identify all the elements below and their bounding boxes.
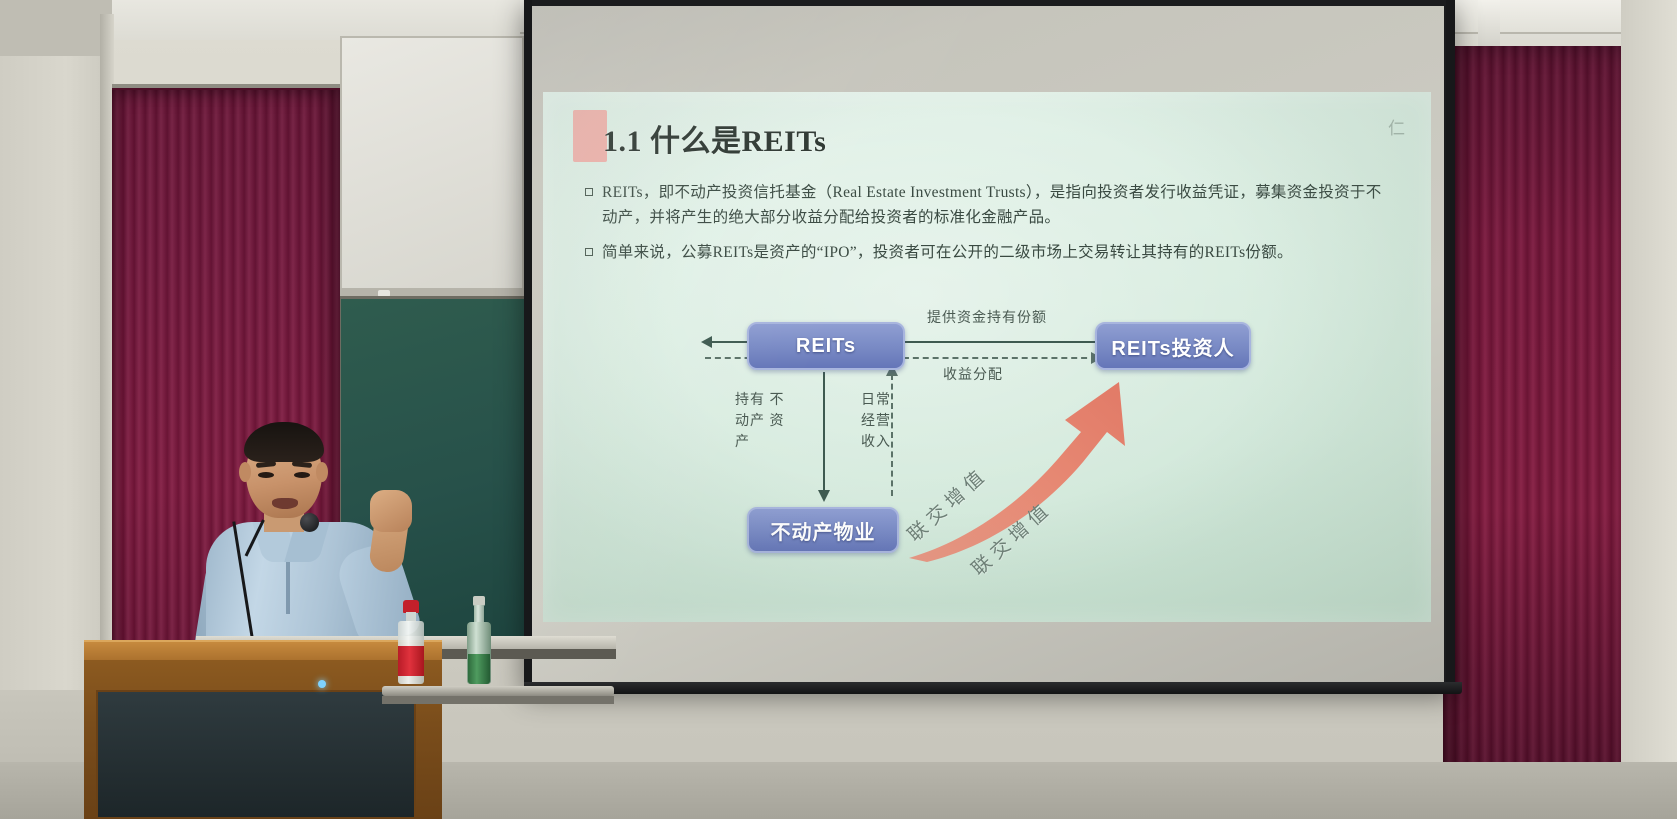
bullet-item: 简单来说，公募REITs是资产的“IPO”，投资者可在公开的二级市场上交易转让其… (585, 240, 1395, 265)
title-accent-block (573, 110, 607, 162)
ceiling-light-fixture (1478, 0, 1500, 52)
whiteboard (340, 36, 524, 290)
bottle-neck-green (474, 605, 484, 623)
bullet-item: REITs，即不动产投资信托基金（Real Estate Investment … (585, 180, 1395, 230)
presenter-mouth (272, 498, 298, 509)
presenter-raised-fist (370, 490, 412, 532)
screen-surface: 1.1 什么是REITs 仁 REITs，即不动产投资信托基金（Real Est… (530, 6, 1444, 682)
right-wall-edge (1621, 0, 1677, 819)
label-operating-income: 日常 经营 收入 (861, 390, 901, 453)
bench-rail-lower (382, 696, 614, 704)
whiteboard-tray (340, 288, 524, 296)
bullet-text: REITs，即不动产投资信托基金（Real Estate Investment … (602, 180, 1395, 230)
presenter-eye-right (294, 472, 310, 478)
bottle-liquid (468, 654, 490, 684)
screen-bottom-bar (524, 682, 1462, 694)
growth-arrow-svg (905, 342, 1185, 562)
diagram-box-reits: REITs (747, 322, 905, 370)
arrow-hold-assets-head (818, 490, 830, 502)
presenter-hair (244, 422, 324, 462)
microphone-head (300, 513, 319, 532)
diagram-box-property: 不动产物业 (747, 507, 899, 553)
institution-logo: 仁 (1388, 114, 1409, 139)
slide-title: 1.1 什么是REITs (603, 116, 826, 160)
bullet-text: 简单来说，公募REITs是资产的“IPO”，投资者可在公开的二级市场上交易转让其… (602, 240, 1395, 265)
screen-bezel-right (1446, 0, 1455, 690)
arrow-hold-assets-line (823, 372, 825, 494)
screen-bezel-left (524, 0, 532, 690)
arrow-provide-funds-head (701, 336, 712, 348)
label-provide-funds: 提供资金持有份额 (927, 307, 1047, 327)
podium-front-panel (96, 690, 416, 819)
diagram-box-investor: REITs投资人 (1095, 322, 1251, 370)
podium-indicator-light (318, 680, 326, 688)
podium-top (84, 640, 442, 662)
lecture-hall-photo: 1.1 什么是REITs 仁 REITs，即不动产投资信托基金（Real Est… (0, 0, 1677, 819)
water-bottle-red (398, 600, 424, 684)
growth-arrow-graphic: 联交增值 联交增值 (905, 342, 1185, 562)
glass-bottle-green (467, 596, 491, 684)
left-wall-upper (0, 0, 112, 56)
presenter-eye-left (258, 472, 274, 478)
bench-rail (382, 686, 614, 696)
square-bullet-icon (585, 248, 593, 256)
presenter-ear-left (239, 462, 251, 482)
presentation-slide: 1.1 什么是REITs 仁 REITs，即不动产投资信托基金（Real Est… (543, 92, 1431, 622)
curtain-right (1443, 46, 1621, 819)
bottle-label (398, 646, 424, 676)
projection-screen: 1.1 什么是REITs 仁 REITs，即不动产投资信托基金（Real Est… (524, 0, 1454, 690)
presenter-ear-right (316, 462, 328, 482)
label-hold-assets: 持有 不动产 资产 (735, 390, 787, 453)
square-bullet-icon (585, 188, 593, 196)
